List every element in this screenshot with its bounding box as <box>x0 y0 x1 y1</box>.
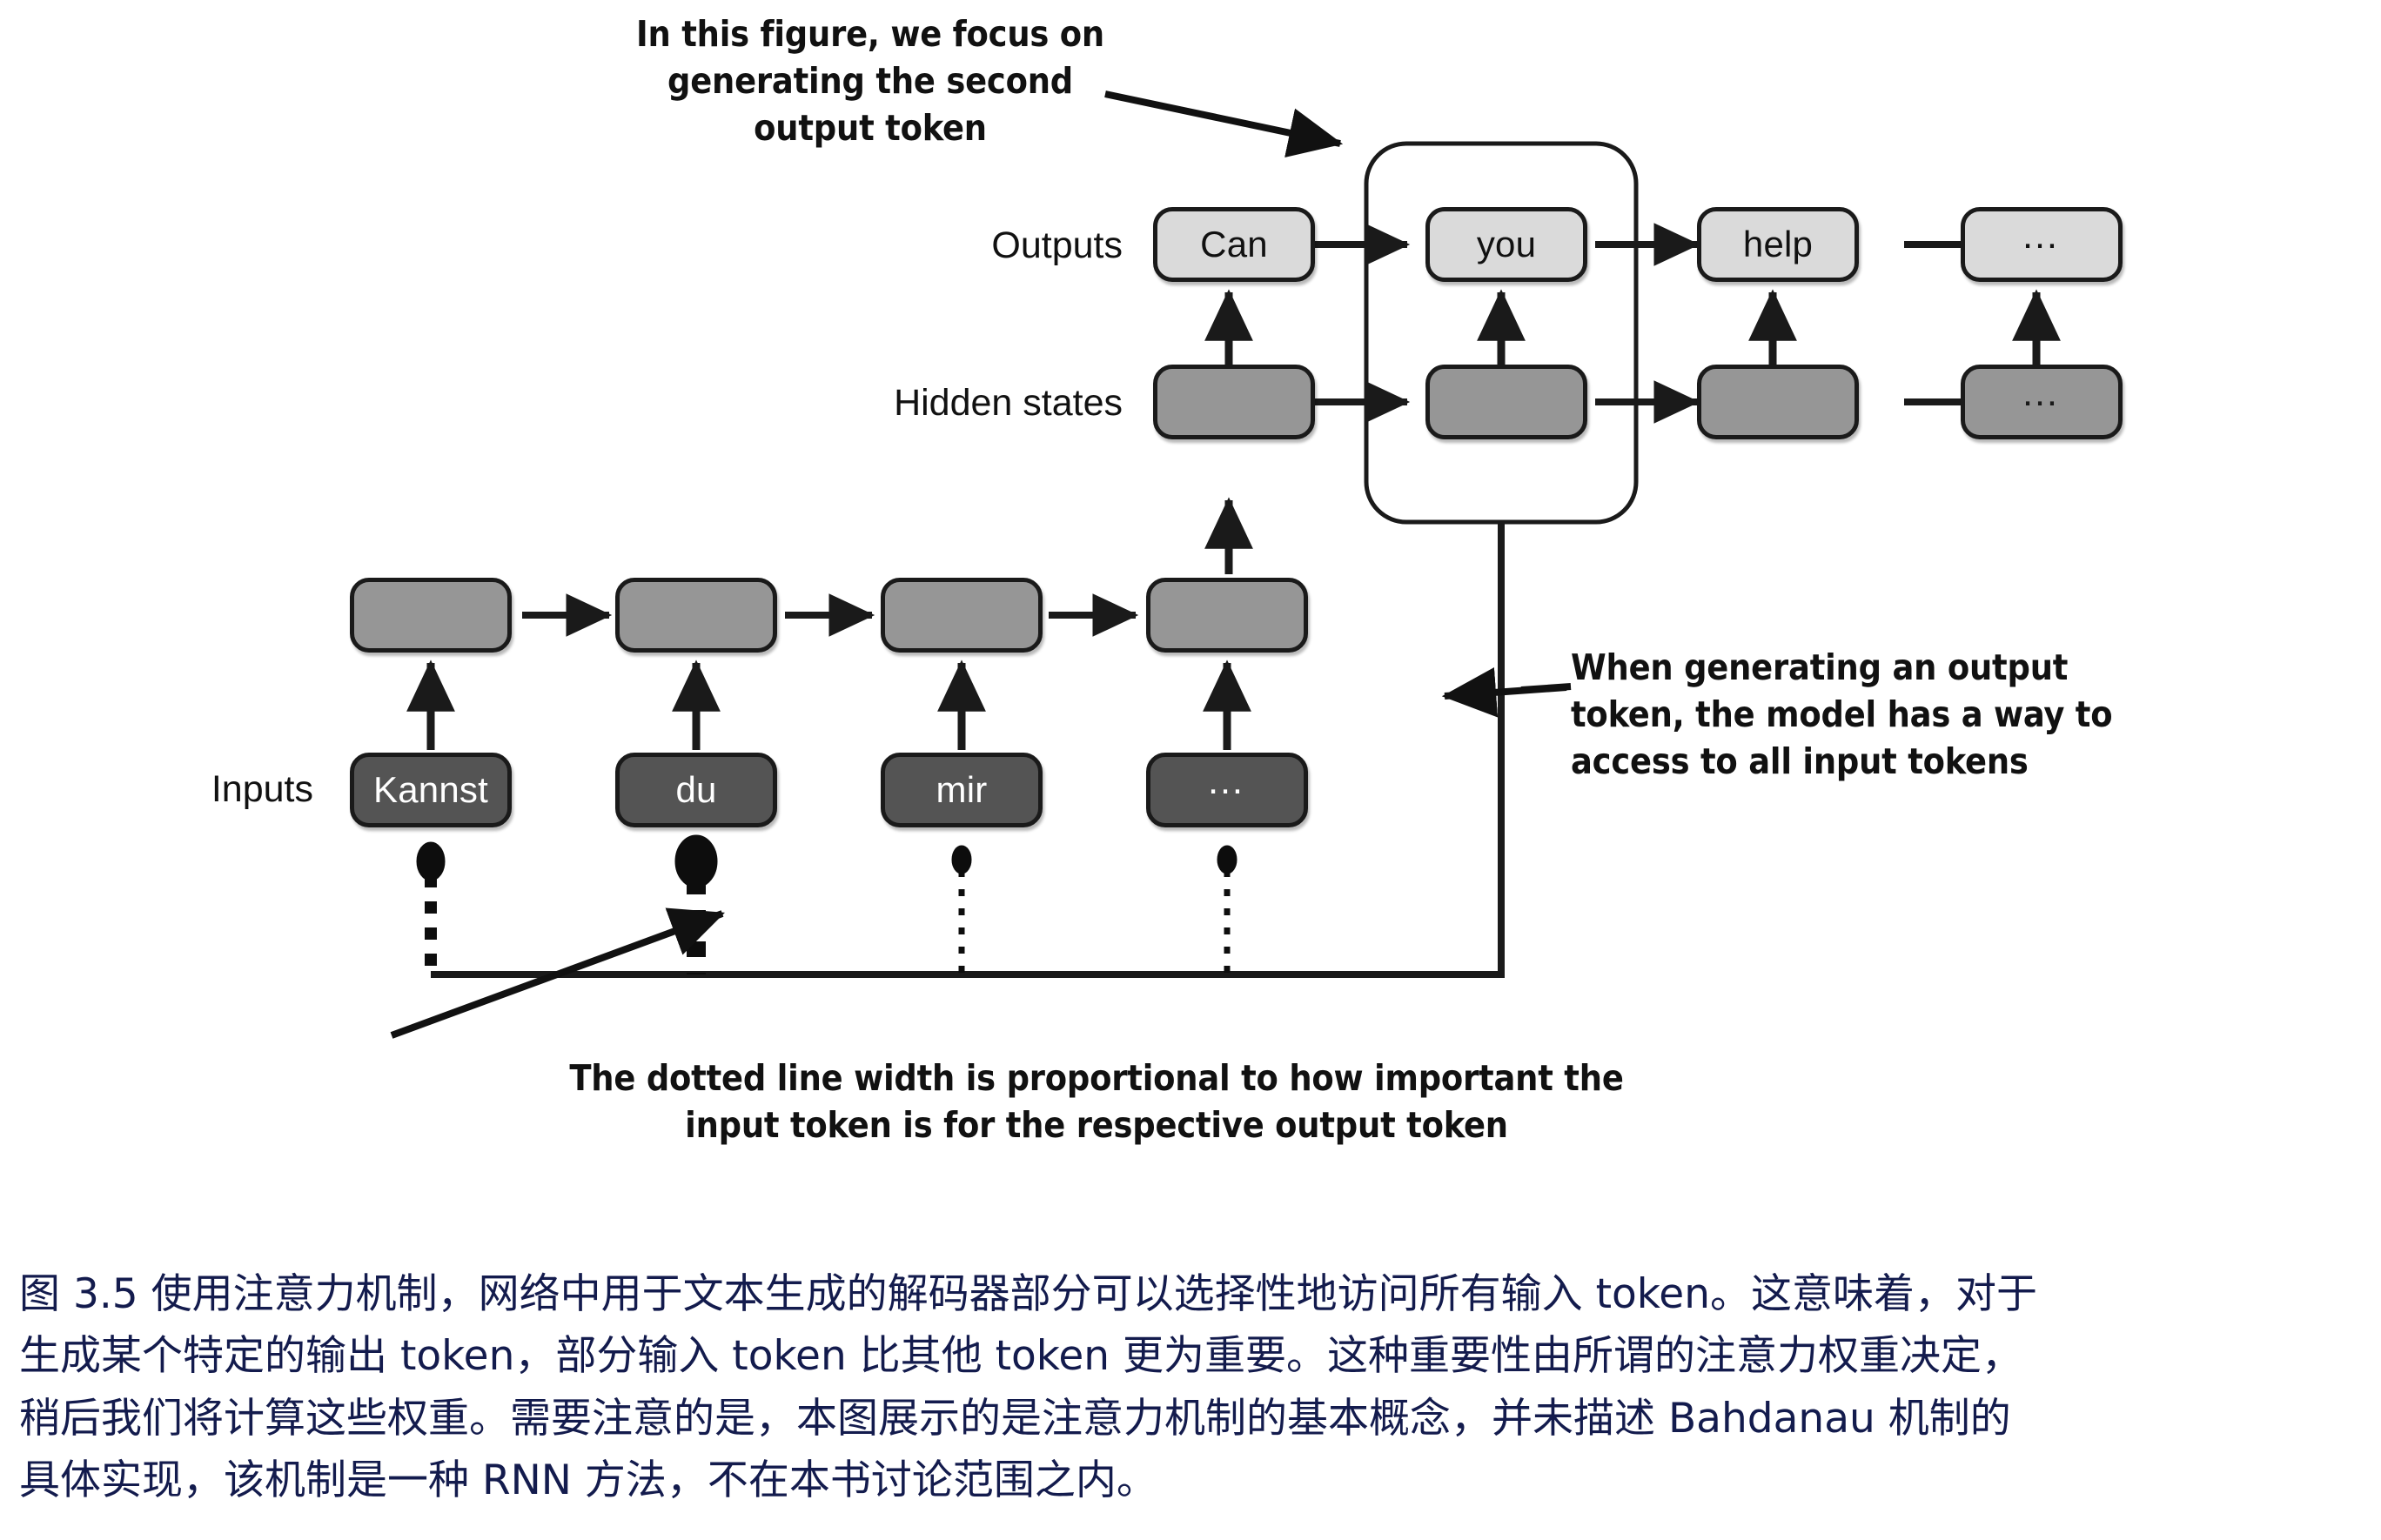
caption-line-3: 稍后我们将计算这些权重。需要注意的是，本图展示的是注意力机制的基本概念，并未描述… <box>19 1388 2369 1450</box>
output-token-1-label: you <box>1477 226 1536 263</box>
annotation-focus-second-output-token: In this figure, we focus on generating t… <box>609 10 1131 151</box>
attention-mechanism-diagram: Outputs Hidden states Inputs Can you hel… <box>0 0 2381 1218</box>
attention-dotted-links <box>417 835 1237 974</box>
row-label-outputs: Outputs <box>687 227 1123 264</box>
output-token-2[interactable]: help <box>1697 207 1859 282</box>
encoder-hidden-state-2[interactable] <box>881 578 1043 653</box>
annotation-access-all-input-tokens: When generating an output token, the mod… <box>1571 644 2276 785</box>
decoder-hidden-state-2[interactable] <box>1697 365 1859 439</box>
output-token-1[interactable]: you <box>1425 207 1587 282</box>
figure-page: Outputs Hidden states Inputs Can you hel… <box>0 0 2381 1540</box>
input-token-3-label: … <box>1206 762 1248 800</box>
encoder-hidden-state-3[interactable] <box>1146 578 1308 653</box>
annotation-leader-access-tail <box>1521 686 1571 690</box>
decoder-hidden-state-3-label: … <box>2021 374 2062 412</box>
annotation-dotted-line-width: The dotted line width is proportional to… <box>374 1055 1819 1148</box>
input-token-0-label: Kannst <box>373 772 488 808</box>
caption-line-4: 具体实现，该机制是一种 RNN 方法，不在本书讨论范围之内。 <box>19 1450 2369 1511</box>
input-to-encoder-arrows <box>431 663 1227 750</box>
input-token-0[interactable]: Kannst <box>350 753 512 827</box>
input-token-2[interactable]: mir <box>881 753 1043 827</box>
annotation-leader-focus <box>1105 94 1340 144</box>
input-token-1[interactable]: du <box>615 753 777 827</box>
output-token-3[interactable]: … <box>1961 207 2123 282</box>
output-token-3-label: … <box>2021 217 2062 255</box>
figure-caption: 图 3.5 使用注意力机制，网络中用于文本生成的解码器部分可以选择性地访问所有输… <box>19 1263 2369 1512</box>
attention-dot-mir <box>952 846 971 874</box>
decoder-hidden-state-1[interactable] <box>1425 365 1587 439</box>
input-token-3[interactable]: … <box>1146 753 1308 827</box>
output-token-0[interactable]: Can <box>1153 207 1315 282</box>
row-label-hidden-states: Hidden states <box>687 385 1123 422</box>
caption-line-2: 生成某个特定的输出 token，部分输入 token 比其他 token 更为重… <box>19 1325 2369 1387</box>
output-token-0-label: Can <box>1200 226 1268 263</box>
encoder-hidden-state-1[interactable] <box>615 578 777 653</box>
attention-dot-ellipsis <box>1217 846 1237 874</box>
attention-dot-kannst <box>417 842 445 880</box>
output-token-2-label: help <box>1743 226 1813 263</box>
input-token-2-label: mir <box>936 772 988 808</box>
caption-line-1: 图 3.5 使用注意力机制，网络中用于文本生成的解码器部分可以选择性地访问所有输… <box>19 1263 2369 1325</box>
input-token-1-label: du <box>675 772 716 808</box>
decoder-vertical-arrows <box>1229 292 2036 374</box>
decoder-hidden-state-3[interactable]: … <box>1961 365 2123 439</box>
row-label-inputs: Inputs <box>52 771 313 808</box>
decoder-hidden-state-0[interactable] <box>1153 365 1315 439</box>
encoder-hidden-state-0[interactable] <box>350 578 512 653</box>
